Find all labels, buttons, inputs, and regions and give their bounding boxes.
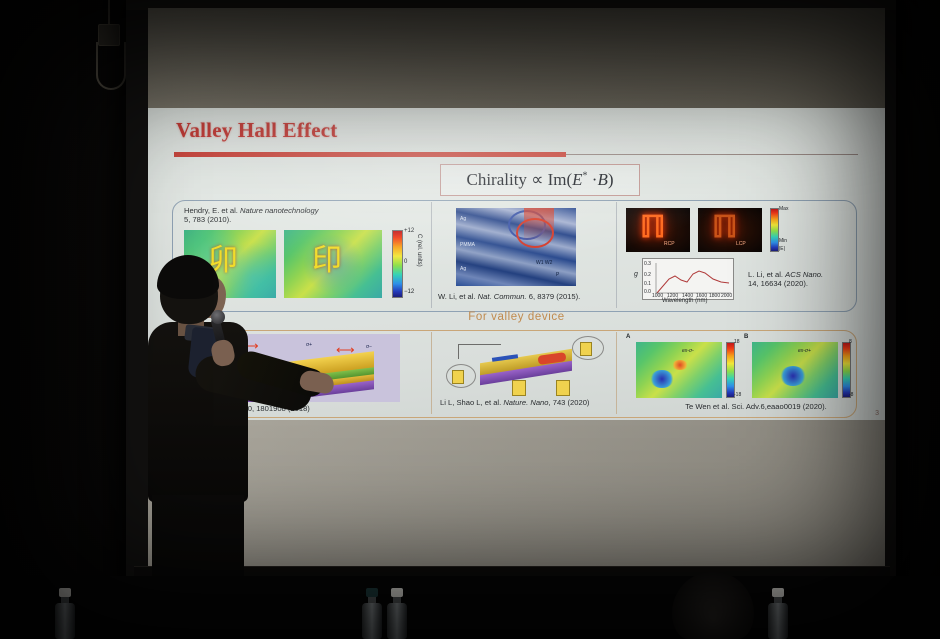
figure-lcp-image: ℿ LCP <box>698 208 762 252</box>
chirality-formula-box: Chirality ∝ Im(E* ·B) <box>440 164 640 196</box>
colorbar-max-label: +12 <box>404 228 414 234</box>
top-divider-1 <box>431 202 432 308</box>
xtick-5: 2000 <box>721 293 732 299</box>
cbB-min: -8 <box>849 392 853 398</box>
field-cb-min: Min <box>779 238 787 244</box>
citation-lli: L. Li, et al. ACS Nano. 14, 16634 (2020)… <box>748 270 852 289</box>
section-label-for-valley-device: For valley device <box>148 311 885 323</box>
ytick-3: 0.3 <box>644 261 651 267</box>
bottom-divider-1 <box>431 332 432 414</box>
field-cb-label: |E| <box>779 246 785 252</box>
cbA-min: -18 <box>734 392 741 398</box>
figure-rcp-image: ℿ RCP <box>626 208 690 252</box>
citation-te-wen: Te Wen et al. Sci. Adv.6,eaao0019 (2020)… <box>646 402 866 411</box>
citation-wli: W. Li, et al. Nat. Commun. 6, 8379 (2015… <box>438 292 618 301</box>
colorbar-field-intensity <box>770 208 779 252</box>
g-factor-plot: 0.3 0.2 0.1 0.0 1000 1200 1400 1600 1800… <box>642 258 734 300</box>
presentation-photo-scene: Valley Hall Effect Chirality ∝ Im(E* ·B)… <box>0 0 940 639</box>
title-rule-thin <box>566 154 858 155</box>
ytick-2: 0.2 <box>644 272 651 278</box>
figure-valley-map-A: ex-σ- <box>636 342 722 398</box>
bottom-divider-2 <box>616 332 617 414</box>
title-rule-thick <box>174 152 566 157</box>
figure-chirality-map-right: 印 <box>284 230 382 298</box>
chirality-formula: Chirality ∝ Im(E* ·B) <box>466 170 613 190</box>
colorbar-valley-A <box>726 342 735 398</box>
figure-valley-map-B: ex-σ+ <box>752 342 838 398</box>
subpanel-letter-A: A <box>626 334 630 340</box>
colorbar-valley-B <box>842 342 851 398</box>
slide-title: Valley Hall Effect <box>176 118 337 143</box>
subpanel-letter-B: B <box>744 334 748 340</box>
cbB-max: 8 <box>849 339 852 345</box>
citation-li-shao: Li L, Shao L, et al. Nature. Nano, 743 (… <box>440 398 600 407</box>
xtick-4: 1800 <box>709 293 720 299</box>
figure-plasmonic-grating: Ag PMMA Ag W1 W2 P <box>456 208 576 286</box>
colorbar-axis-label: C (rel. units) <box>416 234 422 267</box>
colorbar-hendry <box>392 230 403 298</box>
ytick-0: 0.0 <box>644 289 651 295</box>
figure-valley-device-circuit <box>440 334 612 396</box>
slide-page-number: 3 <box>875 410 879 417</box>
chart-ylabel: g <box>634 271 638 278</box>
colorbar-min-label: −12 <box>404 289 414 295</box>
ytick-1: 0.1 <box>644 281 651 287</box>
microphone-head-icon <box>211 310 225 324</box>
colorbar-mid-label: 0 <box>404 259 407 265</box>
cbA-max: 18 <box>734 339 740 345</box>
citation-hendry: Hendry, E. et al. Nature nanotechnology … <box>184 206 384 225</box>
field-cb-max: Max <box>779 206 788 212</box>
foreground-table <box>0 576 940 639</box>
chart-xlabel: Wavelength (nm) <box>662 298 707 304</box>
